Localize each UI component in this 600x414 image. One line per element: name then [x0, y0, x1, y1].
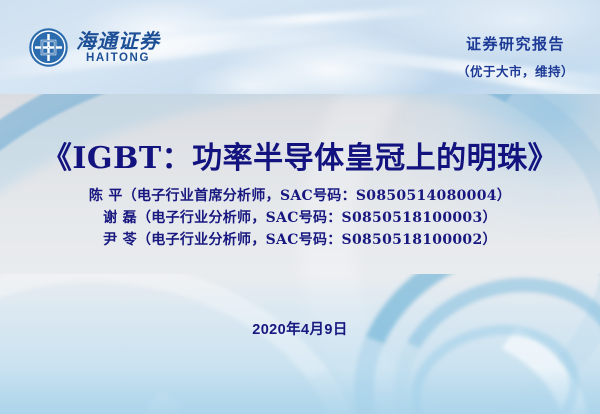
report-type-tag: 证券研究报告 （优于大市，维持）	[457, 33, 574, 80]
author-list: 陈 平（电子行业首席分析师，SAC号码：S0850514080004） 谢 磊（…	[0, 185, 600, 251]
author-line: 尹 苓（电子行业分析师，SAC号码：S0850518100002）	[0, 229, 600, 251]
report-type-label: 证券研究报告	[457, 33, 574, 54]
report-cover-slide: 海通证券 HAITONG 证券研究报告 （优于大市，维持） 《IGBT：功率半导…	[0, 0, 600, 414]
report-date: 2020年4月9日	[0, 318, 600, 339]
brand-name-cn: 海通证券	[76, 31, 160, 51]
brand-name-en: HAITONG	[86, 53, 150, 65]
brand-logo: 海通证券 HAITONG	[28, 27, 160, 68]
cloud-wisp	[180, 5, 440, 32]
author-line: 谢 磊（电子行业分析师，SAC号码：S0850518100003）	[0, 207, 600, 229]
page-title: 《IGBT：功率半导体皇冠上的明珠》	[0, 133, 600, 177]
bottom-haze	[0, 368, 600, 414]
haitong-circular-emblem-icon	[28, 27, 69, 68]
report-rating-label: （优于大市，维持）	[457, 61, 574, 80]
brand-wordmark: 海通证券 HAITONG	[76, 31, 160, 65]
author-line: 陈 平（电子行业首席分析师，SAC号码：S0850514080004）	[0, 185, 600, 207]
bottom-brush-art	[0, 274, 600, 414]
